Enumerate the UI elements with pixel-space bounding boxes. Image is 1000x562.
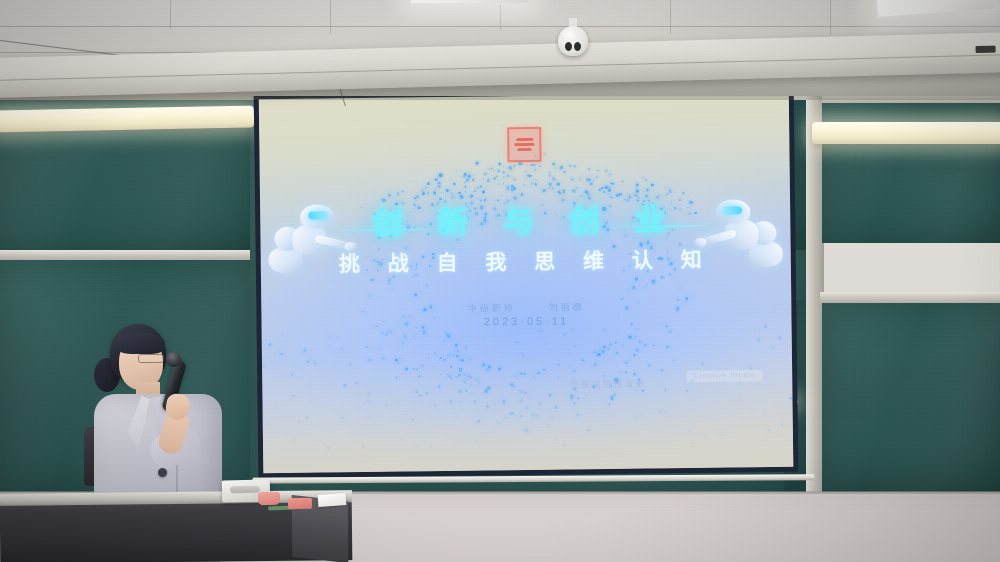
particle <box>779 337 781 339</box>
particle <box>764 325 767 328</box>
slide-surface: 创 新 与 创 业 挑 战 自 我 思 维 认 知 中级职称 刘丽娜 2023·… <box>259 93 794 473</box>
particle <box>628 335 630 337</box>
slide-bottom-glare <box>262 355 793 474</box>
particle <box>280 353 283 356</box>
particle <box>455 344 458 347</box>
particle <box>679 287 682 290</box>
particle <box>413 335 415 337</box>
particle <box>646 284 648 286</box>
particle <box>666 346 669 349</box>
particle <box>694 331 695 332</box>
particle <box>388 282 391 285</box>
ceiling-tile-seam <box>330 0 331 34</box>
particle <box>632 286 635 289</box>
chalkboard-panel-right-lower <box>822 303 1000 493</box>
particle <box>629 351 630 352</box>
particle <box>389 331 392 334</box>
fluorescent-tube-right <box>812 122 1000 144</box>
particle <box>448 336 450 338</box>
camera-lens-left <box>565 42 572 51</box>
eyeglasses-icon <box>138 354 164 363</box>
particle <box>637 331 638 332</box>
ceiling-panel-light-right <box>875 0 994 18</box>
particle <box>636 277 637 278</box>
slide-main-title: 创 新 与 创 业 <box>260 193 791 244</box>
particle <box>669 330 672 333</box>
particle <box>376 297 378 299</box>
particle <box>427 333 428 334</box>
particle <box>569 353 571 355</box>
ceiling-tile-seam <box>670 0 671 34</box>
particle <box>602 350 605 353</box>
presenter-hair-front <box>117 332 165 354</box>
pink-cup <box>258 492 280 505</box>
particle <box>627 289 629 291</box>
particle <box>414 294 417 297</box>
particle <box>616 351 618 353</box>
particle <box>521 353 524 356</box>
particle <box>593 351 595 353</box>
housing-control-button[interactable] <box>976 46 996 54</box>
ceiling-tile-seam <box>500 0 501 30</box>
particle <box>269 344 271 346</box>
particle <box>639 340 641 342</box>
dome-security-camera <box>558 18 588 58</box>
particle <box>574 345 576 347</box>
particle <box>391 289 393 291</box>
ceiling-tile-seam <box>170 0 171 30</box>
particle <box>447 243 448 244</box>
particle <box>310 356 312 358</box>
particle <box>423 282 424 283</box>
particle <box>369 294 372 297</box>
particle <box>636 350 637 351</box>
particle <box>379 347 381 349</box>
particle <box>540 330 542 332</box>
camera-lens-right <box>574 42 581 51</box>
particle <box>543 343 545 345</box>
particle <box>388 330 390 332</box>
projection-screen-frame: 创 新 与 创 业 挑 战 自 我 思 维 认 知 中级职称 刘丽娜 2023·… <box>254 88 799 479</box>
ceiling-panel-light-center <box>410 0 530 4</box>
projection-screen: 创 新 与 创 业 挑 战 自 我 思 维 认 知 中级职称 刘丽娜 2023·… <box>254 80 799 479</box>
particle <box>634 336 636 338</box>
particle <box>341 348 344 351</box>
particle <box>456 354 459 357</box>
particle <box>608 348 610 350</box>
particle <box>772 346 774 348</box>
particle <box>679 335 680 336</box>
particle <box>603 346 605 348</box>
particle <box>563 333 565 335</box>
small-red-box <box>288 498 312 509</box>
particle <box>446 334 449 337</box>
presenter-name-text: 刘丽娜 <box>549 302 585 312</box>
particle <box>426 284 429 287</box>
particle <box>604 329 607 332</box>
tissue-box-slot <box>230 486 260 494</box>
blazer-button <box>158 468 167 477</box>
particle <box>381 333 382 334</box>
particle <box>371 279 374 282</box>
particle <box>629 336 632 339</box>
particle <box>385 334 386 335</box>
particle <box>661 276 663 278</box>
particle <box>712 331 714 333</box>
particle <box>622 344 624 346</box>
particle <box>572 328 574 330</box>
particle <box>443 340 445 342</box>
particle <box>652 280 656 284</box>
board-sheen <box>822 303 1000 493</box>
particle <box>636 349 639 352</box>
particle <box>482 336 483 337</box>
particle <box>304 349 306 351</box>
particle <box>615 341 617 343</box>
particle <box>446 354 449 357</box>
particle <box>445 331 448 334</box>
classroom-photo-scene: 创 新 与 创 业 挑 战 自 我 思 维 认 知 中级职称 刘丽娜 2023·… <box>0 0 1000 562</box>
camera-dome <box>558 26 588 56</box>
particle <box>644 344 647 347</box>
particle <box>508 331 510 333</box>
particle <box>269 349 270 350</box>
particle <box>635 277 638 280</box>
particle <box>619 331 620 332</box>
particle <box>433 352 435 354</box>
ceiling-tile-seam <box>830 0 831 40</box>
particle <box>388 278 392 282</box>
particle <box>608 343 611 346</box>
particle <box>435 352 437 354</box>
particle <box>635 329 637 331</box>
particle <box>597 341 599 343</box>
particle <box>599 348 601 350</box>
particle <box>449 352 450 353</box>
particle <box>663 277 665 279</box>
particle <box>366 345 368 347</box>
particle <box>497 329 499 331</box>
particle <box>741 331 743 333</box>
presenter-title-text: 中级职称 <box>468 303 516 314</box>
particle <box>758 338 761 341</box>
particle <box>282 335 284 337</box>
particle <box>449 355 451 357</box>
particle <box>653 344 655 346</box>
particle <box>453 354 455 356</box>
particle <box>465 347 467 349</box>
particle <box>642 287 644 289</box>
particle <box>327 335 330 338</box>
particle <box>300 352 302 354</box>
particle <box>382 332 384 334</box>
particle <box>328 345 330 347</box>
particle <box>402 342 404 344</box>
particle <box>403 335 407 339</box>
particle <box>423 331 426 334</box>
paper-sheet <box>318 493 347 507</box>
particle <box>336 337 337 338</box>
particle <box>759 331 761 333</box>
red-seal-stamp-icon <box>507 127 541 162</box>
particle <box>386 334 388 336</box>
particle <box>457 350 459 352</box>
particle <box>516 341 518 343</box>
particle <box>677 346 678 347</box>
